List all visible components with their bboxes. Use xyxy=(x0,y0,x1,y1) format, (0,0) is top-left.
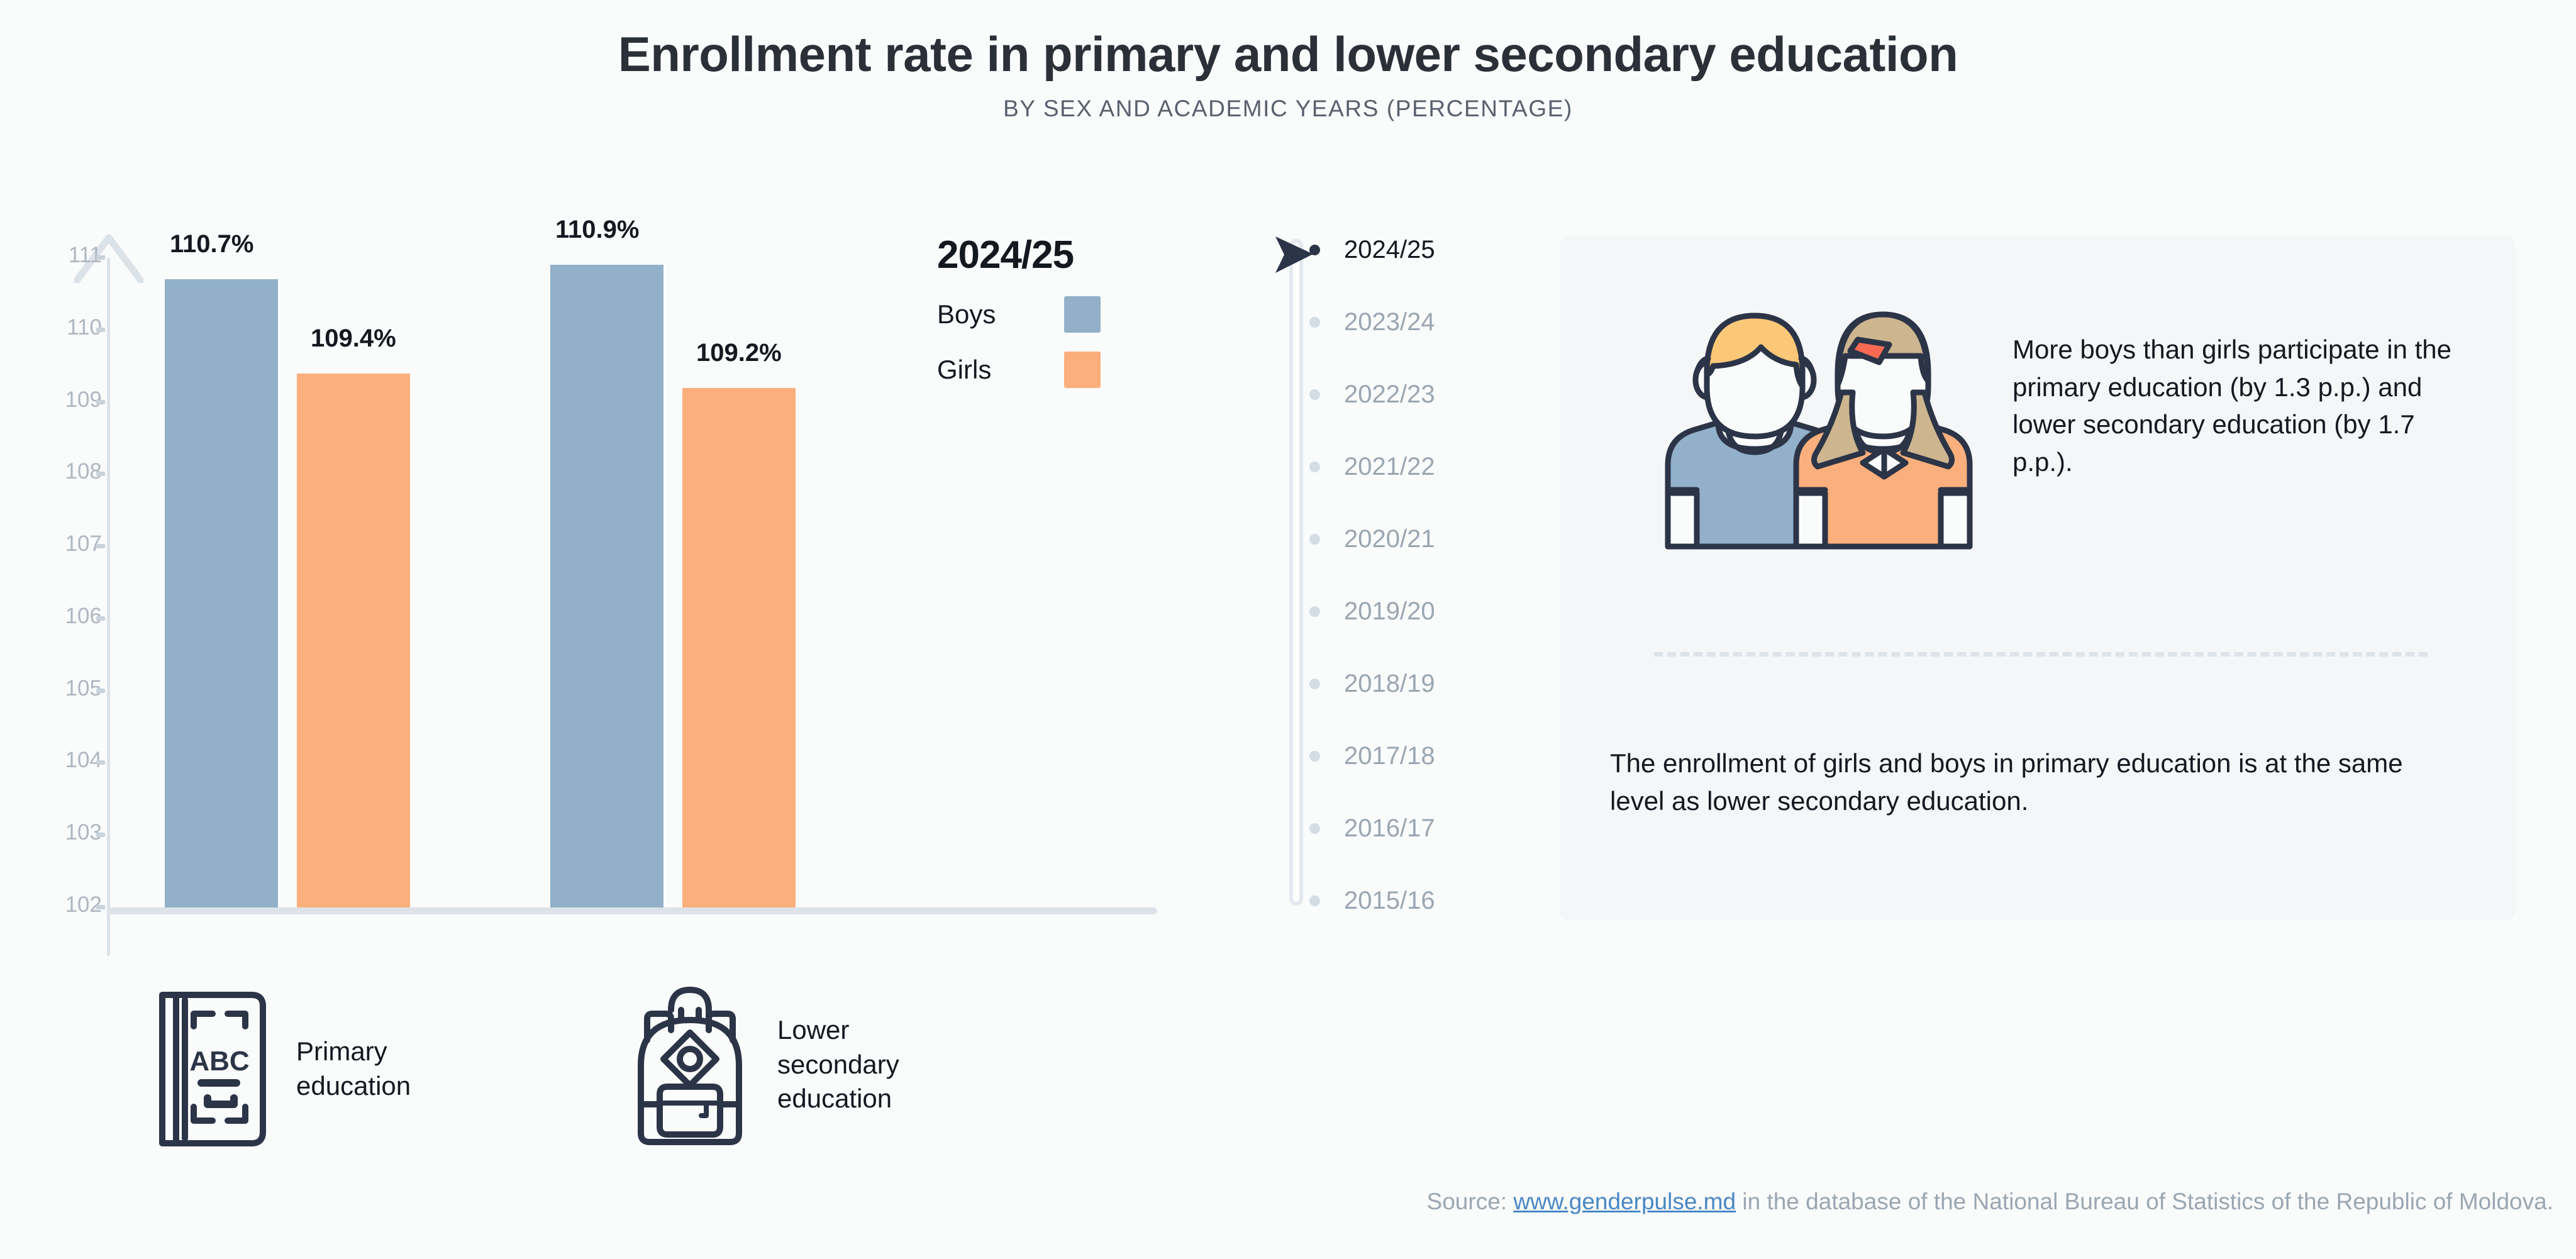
y-axis-tick-mark xyxy=(96,689,105,693)
year-option-dot xyxy=(1309,534,1320,545)
backpack-icon xyxy=(632,980,748,1150)
chart-legend: 2024/25 Boys Girls xyxy=(937,233,1201,388)
bar-value-label: 110.7% xyxy=(170,230,253,258)
chart-header: Enrollment rate in primary and lower sec… xyxy=(0,29,2576,122)
y-axis-tick-mark xyxy=(96,255,105,260)
year-option-label: 2018/19 xyxy=(1344,670,1435,698)
year-option-dot xyxy=(1309,317,1320,328)
insight-note-primary: More boys than girls participate in the … xyxy=(2012,331,2472,481)
year-option-label: 2020/21 xyxy=(1344,525,1435,553)
insight-note-secondary: The enrollment of girls and boys in prim… xyxy=(1610,745,2459,819)
year-option-2017-18[interactable]: 2017/18 xyxy=(1309,739,1523,773)
year-selector[interactable]: 2024/252023/242022/232021/222020/212019/… xyxy=(1270,233,1535,924)
year-scrollbar-track[interactable] xyxy=(1289,239,1303,906)
y-axis-tick-mark xyxy=(96,328,105,332)
y-axis-tick-mark xyxy=(96,833,105,837)
insight-panel: More boys than girls participate in the … xyxy=(1560,235,2516,921)
svg-text:ABC: ABC xyxy=(189,1046,249,1077)
source-suffix: in the database of the National Bureau o… xyxy=(1736,1189,2553,1214)
year-option-2021-22[interactable]: 2021/22 xyxy=(1309,450,1523,484)
y-axis-tick-mark xyxy=(96,544,105,548)
year-option-dot xyxy=(1309,751,1320,762)
bar-boys-primary[interactable] xyxy=(165,279,278,907)
legend-selected-year: 2024/25 xyxy=(937,233,1201,277)
year-option-2019-20[interactable]: 2019/20 xyxy=(1309,594,1523,628)
category-label-lower-secondary: Lower secondary education xyxy=(777,1013,899,1116)
x-axis-baseline xyxy=(107,907,1157,914)
y-axis-tick-mark xyxy=(96,400,105,404)
panel-divider xyxy=(1654,652,2428,657)
year-option-dot xyxy=(1309,606,1320,617)
legend-label-girls: Girls xyxy=(937,355,991,385)
year-option-dot xyxy=(1309,679,1320,689)
year-option-dot xyxy=(1309,896,1320,906)
year-option-label: 2024/25 xyxy=(1344,236,1435,264)
legend-swatch-boys xyxy=(1064,296,1101,333)
bar-boys-lower-secondary[interactable] xyxy=(550,265,663,907)
year-option-2015-16[interactable]: 2015/16 xyxy=(1309,884,1523,918)
category-legend: ABC Primary education Lower secondary ed… xyxy=(157,956,1101,1145)
year-option-2023-24[interactable]: 2023/24 xyxy=(1309,305,1523,339)
legend-item-boys[interactable]: Boys xyxy=(937,296,1101,333)
legend-label-boys: Boys xyxy=(937,299,996,330)
bar-girls-primary[interactable] xyxy=(297,374,410,907)
source-prefix: Source: xyxy=(1427,1189,1514,1214)
year-option-dot xyxy=(1309,389,1320,400)
year-option-label: 2022/23 xyxy=(1344,380,1435,409)
legend-swatch-girls xyxy=(1064,352,1101,388)
bar-value-label: 110.9% xyxy=(555,216,639,244)
bar-girls-lower-secondary[interactable] xyxy=(682,388,796,907)
year-option-label: 2015/16 xyxy=(1344,887,1435,915)
boy-and-girl-icon xyxy=(1641,304,1994,550)
year-option-label: 2019/20 xyxy=(1344,597,1435,626)
category-label-primary: Primary education xyxy=(296,1034,411,1103)
page-title: Enrollment rate in primary and lower sec… xyxy=(0,29,2576,80)
page-subtitle: BY SEX AND ACADEMIC YEARS (PERCENTAGE) xyxy=(0,96,2576,122)
year-option-2024-25[interactable]: 2024/25 xyxy=(1309,233,1523,267)
source-link[interactable]: www.genderpulse.md xyxy=(1513,1189,1736,1214)
year-option-2016-17[interactable]: 2016/17 xyxy=(1309,811,1523,845)
year-option-2022-23[interactable]: 2022/23 xyxy=(1309,377,1523,411)
year-option-2018-19[interactable]: 2018/19 xyxy=(1309,667,1523,701)
category-lower-secondary-education: Lower secondary education xyxy=(632,980,899,1150)
year-option-label: 2021/22 xyxy=(1344,453,1435,481)
category-primary-education: ABC Primary education xyxy=(157,987,411,1151)
year-option-label: 2017/18 xyxy=(1344,742,1435,770)
book-abc-icon: ABC xyxy=(157,987,267,1151)
legend-item-girls[interactable]: Girls xyxy=(937,352,1101,388)
year-option-dot xyxy=(1309,462,1320,472)
y-axis-tick-mark xyxy=(96,760,105,765)
year-option-dot xyxy=(1309,823,1320,834)
source-note: Source: www.genderpulse.md in the databa… xyxy=(0,1189,2553,1215)
year-option-label: 2016/17 xyxy=(1344,814,1435,843)
year-option-label: 2023/24 xyxy=(1344,308,1435,336)
bar-value-label: 109.4% xyxy=(311,324,396,353)
bar-value-label: 109.2% xyxy=(696,339,782,367)
y-axis-tick-mark xyxy=(96,616,105,621)
year-option-dot xyxy=(1309,245,1320,255)
y-axis-tick-mark xyxy=(96,905,105,909)
y-axis-tick-mark xyxy=(96,472,105,476)
year-option-2020-21[interactable]: 2020/21 xyxy=(1309,522,1523,556)
